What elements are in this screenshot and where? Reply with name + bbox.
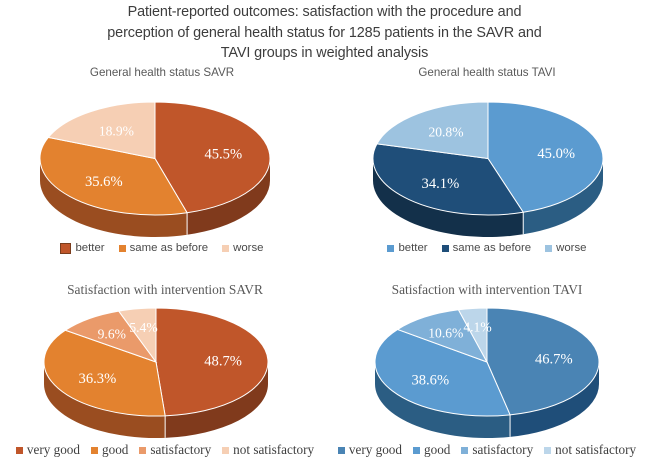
pie-value-label: 18.9% — [99, 123, 134, 138]
legend-swatch-icon — [60, 243, 71, 254]
legend-item-very-good[interactable]: very good — [338, 442, 402, 458]
pie-value-label: 48.7% — [204, 354, 242, 370]
legend-item-satisfactory[interactable]: satisfactory — [461, 442, 533, 458]
legend-item-satisfactory[interactable]: satisfactory — [139, 442, 211, 458]
legend-item-better[interactable]: better — [387, 242, 427, 254]
pie-value-label: 38.6% — [411, 372, 449, 388]
figure-title-line-2: perception of general health status for … — [0, 23, 649, 44]
legend-label: very good — [349, 442, 402, 458]
legend-swatch-icon — [91, 447, 98, 454]
panel-satisfaction-tavi: Satisfaction with intervention TAVI 46.7… — [325, 278, 649, 466]
pie-value-label: 45.5% — [204, 147, 242, 163]
legend-swatch-icon — [545, 245, 552, 252]
legend-label: satisfactory — [150, 442, 211, 458]
legend-label: worse — [233, 242, 263, 254]
legend-swatch-icon — [139, 447, 146, 454]
chart-title-general-health-savr: General health status SAVR — [0, 66, 324, 79]
pie-svg-general-health-savr: 45.5%35.6%18.9% — [40, 100, 270, 241]
panel-satisfaction-savr: Satisfaction with intervention SAVR 48.7… — [0, 278, 330, 466]
pie-value-label: 5.4% — [129, 320, 157, 335]
pie-value-label: 35.6% — [85, 174, 123, 190]
legend-item-better[interactable]: better — [60, 242, 104, 254]
pie-value-label: 36.3% — [79, 371, 117, 387]
chart-title-general-health-tavi: General health status TAVI — [325, 66, 649, 79]
figure-title-line-1: Patient-reported outcomes: satisfaction … — [0, 2, 649, 23]
pie-svg-satisfaction-tavi: 46.7%38.6%10.6%4.1% — [375, 306, 599, 442]
legend-item-same-as-before[interactable]: same as before — [119, 242, 209, 254]
legend-label: worse — [556, 242, 586, 254]
pie-value-label: 9.6% — [98, 326, 126, 341]
figure-title-line-3: TAVI groups in weighted analysis — [0, 43, 649, 64]
legend-swatch-icon — [442, 245, 449, 252]
legend-label: very good — [27, 442, 80, 458]
legend-label: better — [75, 242, 104, 254]
legend-swatch-icon — [16, 447, 23, 454]
legend-swatch-icon — [338, 447, 345, 454]
legend-swatch-icon — [544, 447, 551, 454]
pie-value-label: 20.8% — [428, 125, 463, 140]
legend-item-good[interactable]: good — [91, 442, 128, 458]
pie-svg-satisfaction-savr: 48.7%36.3%9.6%5.4% — [44, 306, 268, 442]
legend-label: same as before — [453, 242, 532, 254]
figure-title: Patient-reported outcomes: satisfaction … — [0, 2, 649, 64]
pie-satisfaction-savr: 48.7%36.3%9.6%5.4% — [44, 306, 268, 436]
legend-label: same as before — [130, 242, 209, 254]
legend-item-very-good[interactable]: very good — [16, 442, 80, 458]
pie-svg-general-health-tavi: 45.0%34.1%20.8% — [373, 100, 603, 241]
pie-value-label: 45.0% — [537, 146, 575, 162]
figure-root: Patient-reported outcomes: satisfaction … — [0, 0, 649, 466]
legend-item-good[interactable]: good — [413, 442, 450, 458]
legend-item-not-satisfactory[interactable]: not satisfactory — [222, 442, 314, 458]
pie-value-label: 4.1% — [463, 320, 491, 335]
legend-item-not-satisfactory[interactable]: not satisfactory — [544, 442, 636, 458]
pie-value-label: 34.1% — [422, 176, 460, 192]
pie-general-health-tavi: 45.0%34.1%20.8% — [373, 100, 603, 235]
legend-swatch-icon — [119, 245, 126, 252]
pie-general-health-savr: 45.5%35.6%18.9% — [40, 100, 270, 235]
legend-swatch-icon — [222, 447, 229, 454]
pie-value-label: 46.7% — [535, 352, 573, 368]
legend-swatch-icon — [387, 245, 394, 252]
panel-general-health-savr: General health status SAVR 45.5%35.6%18.… — [0, 62, 324, 272]
legend-general-health-tavi: bettersame as beforeworse — [325, 242, 649, 254]
legend-swatch-icon — [413, 447, 420, 454]
legend-label: good — [424, 442, 450, 458]
legend-label: not satisfactory — [555, 442, 636, 458]
pie-value-label: 10.6% — [428, 325, 463, 340]
legend-satisfaction-savr: very goodgoodsatisfactorynot satisfactor… — [0, 442, 330, 458]
legend-label: good — [102, 442, 128, 458]
legend-label: satisfactory — [472, 442, 533, 458]
legend-label: better — [398, 242, 427, 254]
pie-satisfaction-tavi: 46.7%38.6%10.6%4.1% — [375, 306, 599, 436]
legend-label: not satisfactory — [233, 442, 314, 458]
legend-item-worse[interactable]: worse — [545, 242, 586, 254]
panel-general-health-tavi: General health status TAVI 45.0%34.1%20.… — [325, 62, 649, 272]
chart-title-satisfaction-savr: Satisfaction with intervention SAVR — [0, 282, 330, 298]
legend-item-same-as-before[interactable]: same as before — [442, 242, 532, 254]
legend-satisfaction-tavi: very goodgoodsatisfactorynot satisfactor… — [325, 442, 649, 458]
legend-general-health-savr: bettersame as beforeworse — [0, 242, 324, 254]
chart-title-satisfaction-tavi: Satisfaction with intervention TAVI — [325, 282, 649, 298]
legend-swatch-icon — [461, 447, 468, 454]
legend-item-worse[interactable]: worse — [222, 242, 263, 254]
legend-swatch-icon — [222, 245, 229, 252]
